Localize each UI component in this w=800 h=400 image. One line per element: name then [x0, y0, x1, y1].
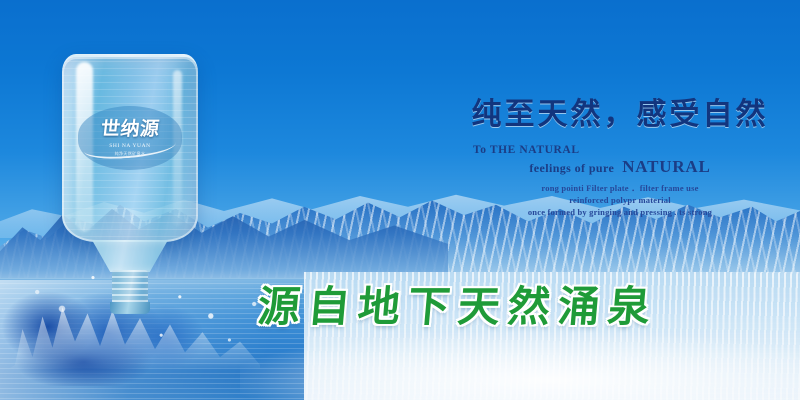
advertising-banner: 世纳源 SHI NA YUAN 纯净天然矿泉水 纯至天然，感受自然 To THE… — [0, 0, 800, 400]
bottle-label: 世纳源 SHI NA YUAN 纯净天然矿泉水 — [78, 106, 182, 170]
subheading-line-1: To THE NATURAL — [455, 144, 785, 156]
fineprint-line: reinforced polypr material — [455, 194, 785, 206]
bottle-shoulder — [92, 240, 168, 272]
subheading-line-2-big: NATURAL — [622, 157, 710, 177]
bottle-cap — [110, 302, 150, 314]
subheading-english: To THE NATURAL feelings of pure NATURAL — [455, 144, 785, 177]
subheading-line-2: feelings of pure NATURAL — [455, 157, 785, 177]
water-bottle: 世纳源 SHI NA YUAN 纯净天然矿泉水 — [62, 54, 198, 286]
copy-block: 纯至天然，感受自然 To THE NATURAL feelings of pur… — [455, 98, 785, 219]
label-swoosh-decoration — [83, 134, 176, 161]
fineprint-block: rong pointi Filter plate ．filter frame u… — [455, 182, 785, 219]
fineprint-line: rong pointi Filter plate ．filter frame u… — [455, 182, 785, 194]
headline-chinese: 纯至天然，感受自然 — [455, 98, 785, 132]
subheading-line-2-small: feelings of pure — [529, 161, 614, 176]
slogan-chinese: 源自地下天然涌泉 — [256, 286, 700, 328]
fineprint-line: once formed by gringing and pressing . t… — [455, 206, 785, 218]
bottle-neck-rings — [112, 270, 148, 304]
